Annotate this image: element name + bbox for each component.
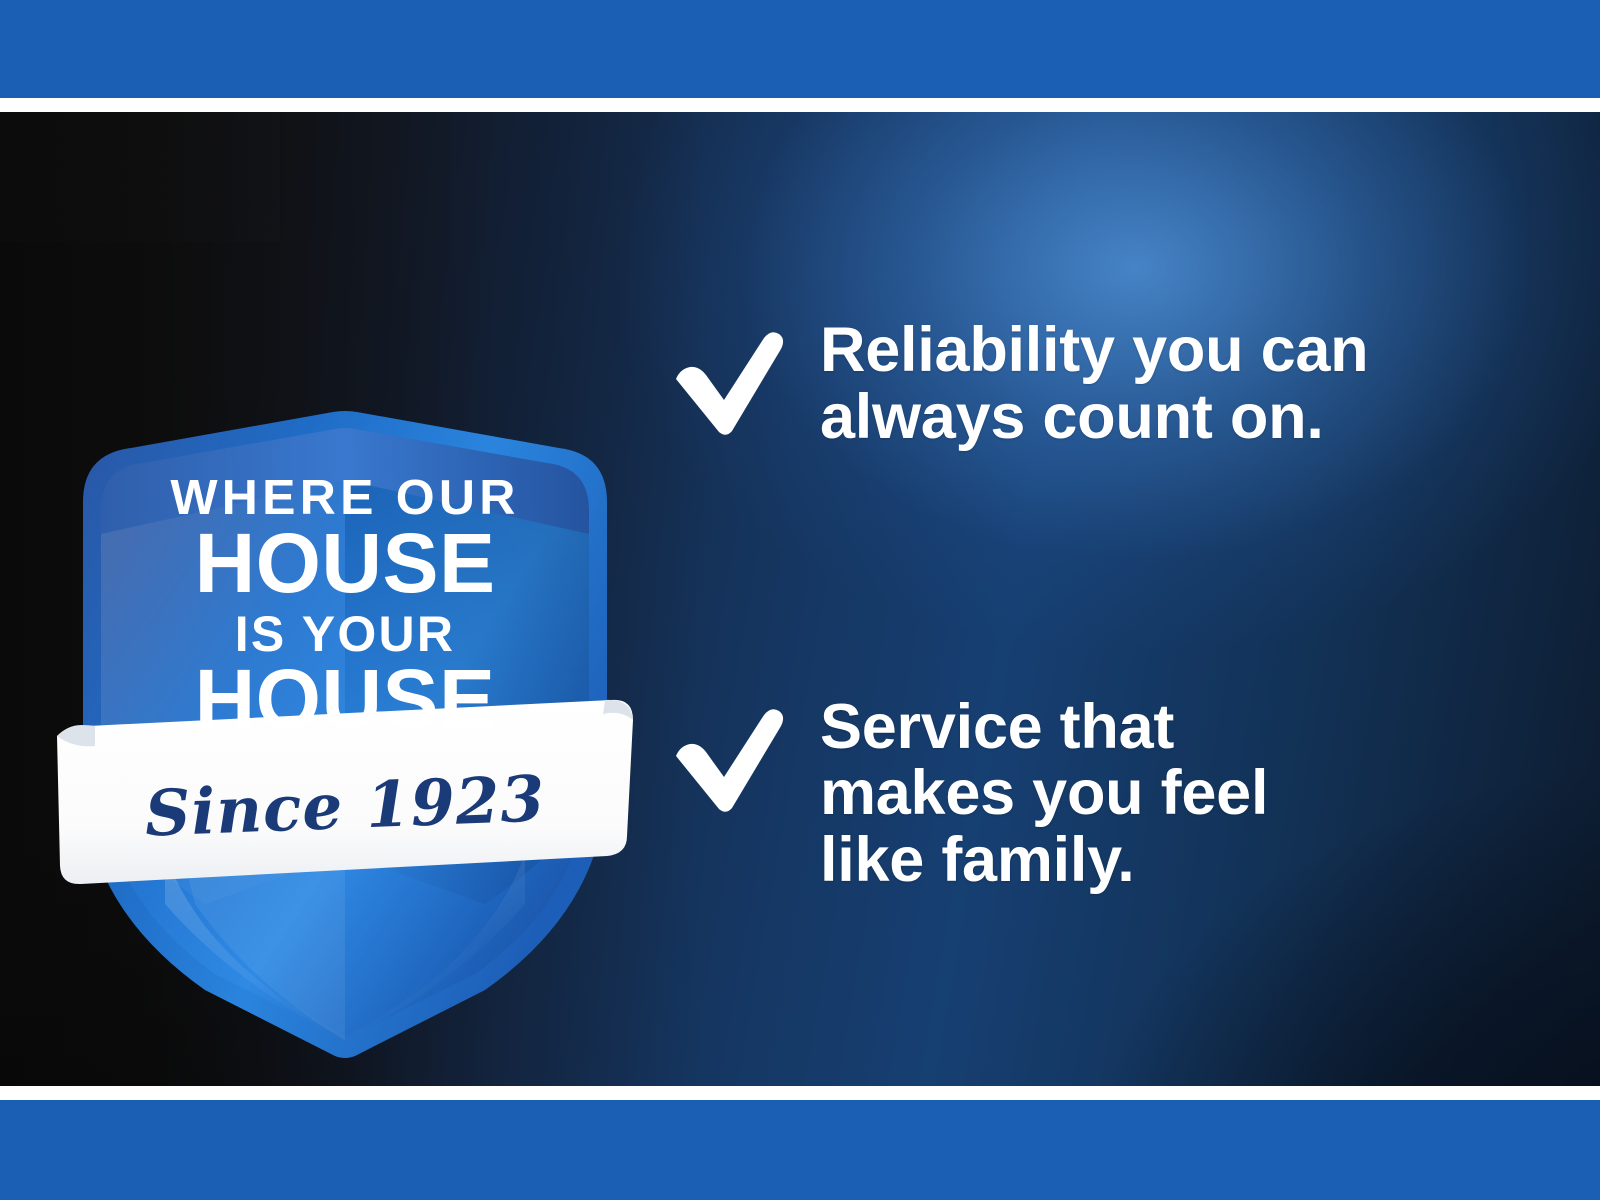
- benefit-item-1: Reliability you can always count on.: [672, 317, 1472, 451]
- ribbon-band: [57, 700, 633, 884]
- promo-graphic: Where Our House Is Your House Since 1923…: [0, 0, 1600, 1200]
- top-blue-bar: [0, 0, 1600, 98]
- benefit-text-2: Service that makes you feel like family.: [820, 694, 1472, 894]
- main-panel: Where Our House Is Your House Since 1923…: [0, 112, 1600, 1086]
- benefit-item-2: Service that makes you feel like family.: [672, 694, 1472, 894]
- shield-logo: Where Our House Is Your House Since 1923: [55, 384, 635, 1059]
- benefits-list: Reliability you can always count on. Ser…: [672, 317, 1472, 851]
- shield-graphic: [55, 384, 635, 1059]
- benefit-text-1: Reliability you can always count on.: [820, 317, 1472, 451]
- bottom-blue-bar: [0, 1100, 1600, 1200]
- checkmark-icon: [672, 694, 804, 814]
- checkmark-icon: [672, 317, 804, 437]
